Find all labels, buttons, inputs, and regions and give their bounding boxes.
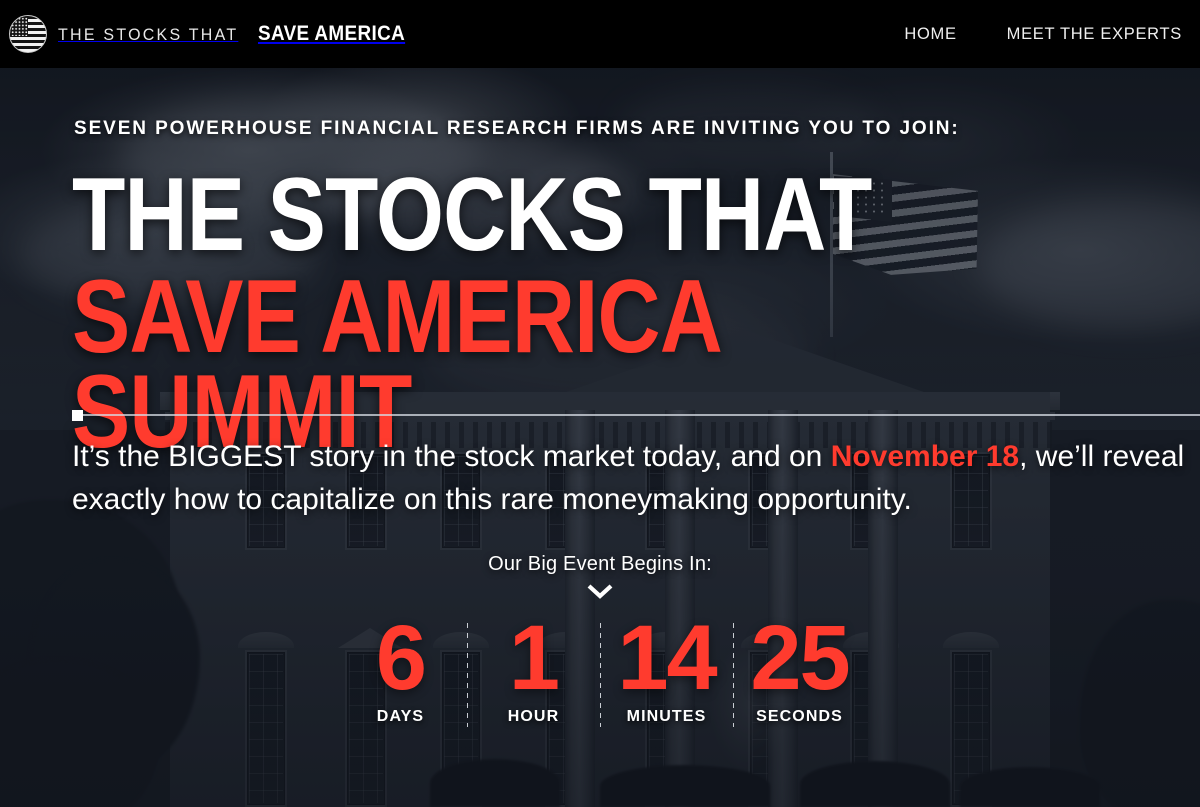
nav-item-meet-the-experts[interactable]: MEET THE EXPERTS	[1007, 25, 1182, 44]
site-logo[interactable]: THE STOCKS THAT SAVE AMERICA	[0, 15, 421, 53]
usa-flag-circle-icon	[9, 15, 47, 53]
headline-line-2: SAVE AMERICA SUMMIT	[72, 270, 1020, 461]
divider-block	[72, 410, 83, 421]
chevron-down-icon	[587, 583, 613, 599]
countdown-caption-seconds: SECONDS	[733, 708, 866, 726]
main-navigation: HOME MEET THE EXPERTS	[904, 25, 1200, 44]
countdown-label: Our Big Event Begins In:	[0, 553, 1200, 576]
countdown-caption-days: DAYS	[334, 708, 467, 726]
countdown-value-seconds: 25	[733, 615, 866, 702]
landing-page: THE STOCKS THAT SAVE AMERICA HOME MEET T…	[0, 0, 1200, 807]
countdown-unit-seconds: 25 SECONDS	[733, 615, 866, 726]
site-header: THE STOCKS THAT SAVE AMERICA HOME MEET T…	[0, 0, 1200, 68]
logo-wordmark: THE STOCKS THAT SAVE AMERICA	[58, 22, 421, 46]
headline-line-1: THE STOCKS THAT	[72, 168, 1020, 264]
subhead-part-1: It’s the BIGGEST story in the stock mark…	[72, 440, 831, 473]
countdown-units: 6 DAYS 1 HOUR 14 MINUTES 25 SECONDS	[0, 615, 1200, 726]
countdown-caption-minutes: MINUTES	[600, 708, 733, 726]
hero-eyebrow: SEVEN POWERHOUSE FINANCIAL RESEARCH FIRM…	[74, 118, 960, 140]
hero-subheadline: It’s the BIGGEST story in the stock mark…	[72, 436, 1187, 521]
flag-stars	[11, 17, 28, 36]
logo-text-light: THE STOCKS THAT	[58, 25, 238, 45]
divider-line	[83, 414, 1200, 416]
hero-section: SEVEN POWERHOUSE FINANCIAL RESEARCH FIRM…	[0, 68, 1200, 807]
countdown-value-hours: 1	[467, 615, 600, 702]
countdown-timer: Our Big Event Begins In: 6 DAYS 1 HOUR 1…	[0, 553, 1200, 726]
countdown-unit-minutes: 14 MINUTES	[600, 615, 733, 726]
countdown-caption-hours: HOUR	[467, 708, 600, 726]
logo-text-bold: SAVE AMERICA	[258, 22, 405, 46]
countdown-unit-days: 6 DAYS	[334, 615, 467, 726]
countdown-value-minutes: 14	[600, 615, 733, 702]
subhead-event-date: November 18	[831, 440, 1019, 473]
nav-item-home[interactable]: HOME	[904, 25, 956, 44]
divider	[72, 410, 1200, 420]
countdown-unit-hours: 1 HOUR	[467, 615, 600, 726]
countdown-value-days: 6	[334, 615, 467, 702]
